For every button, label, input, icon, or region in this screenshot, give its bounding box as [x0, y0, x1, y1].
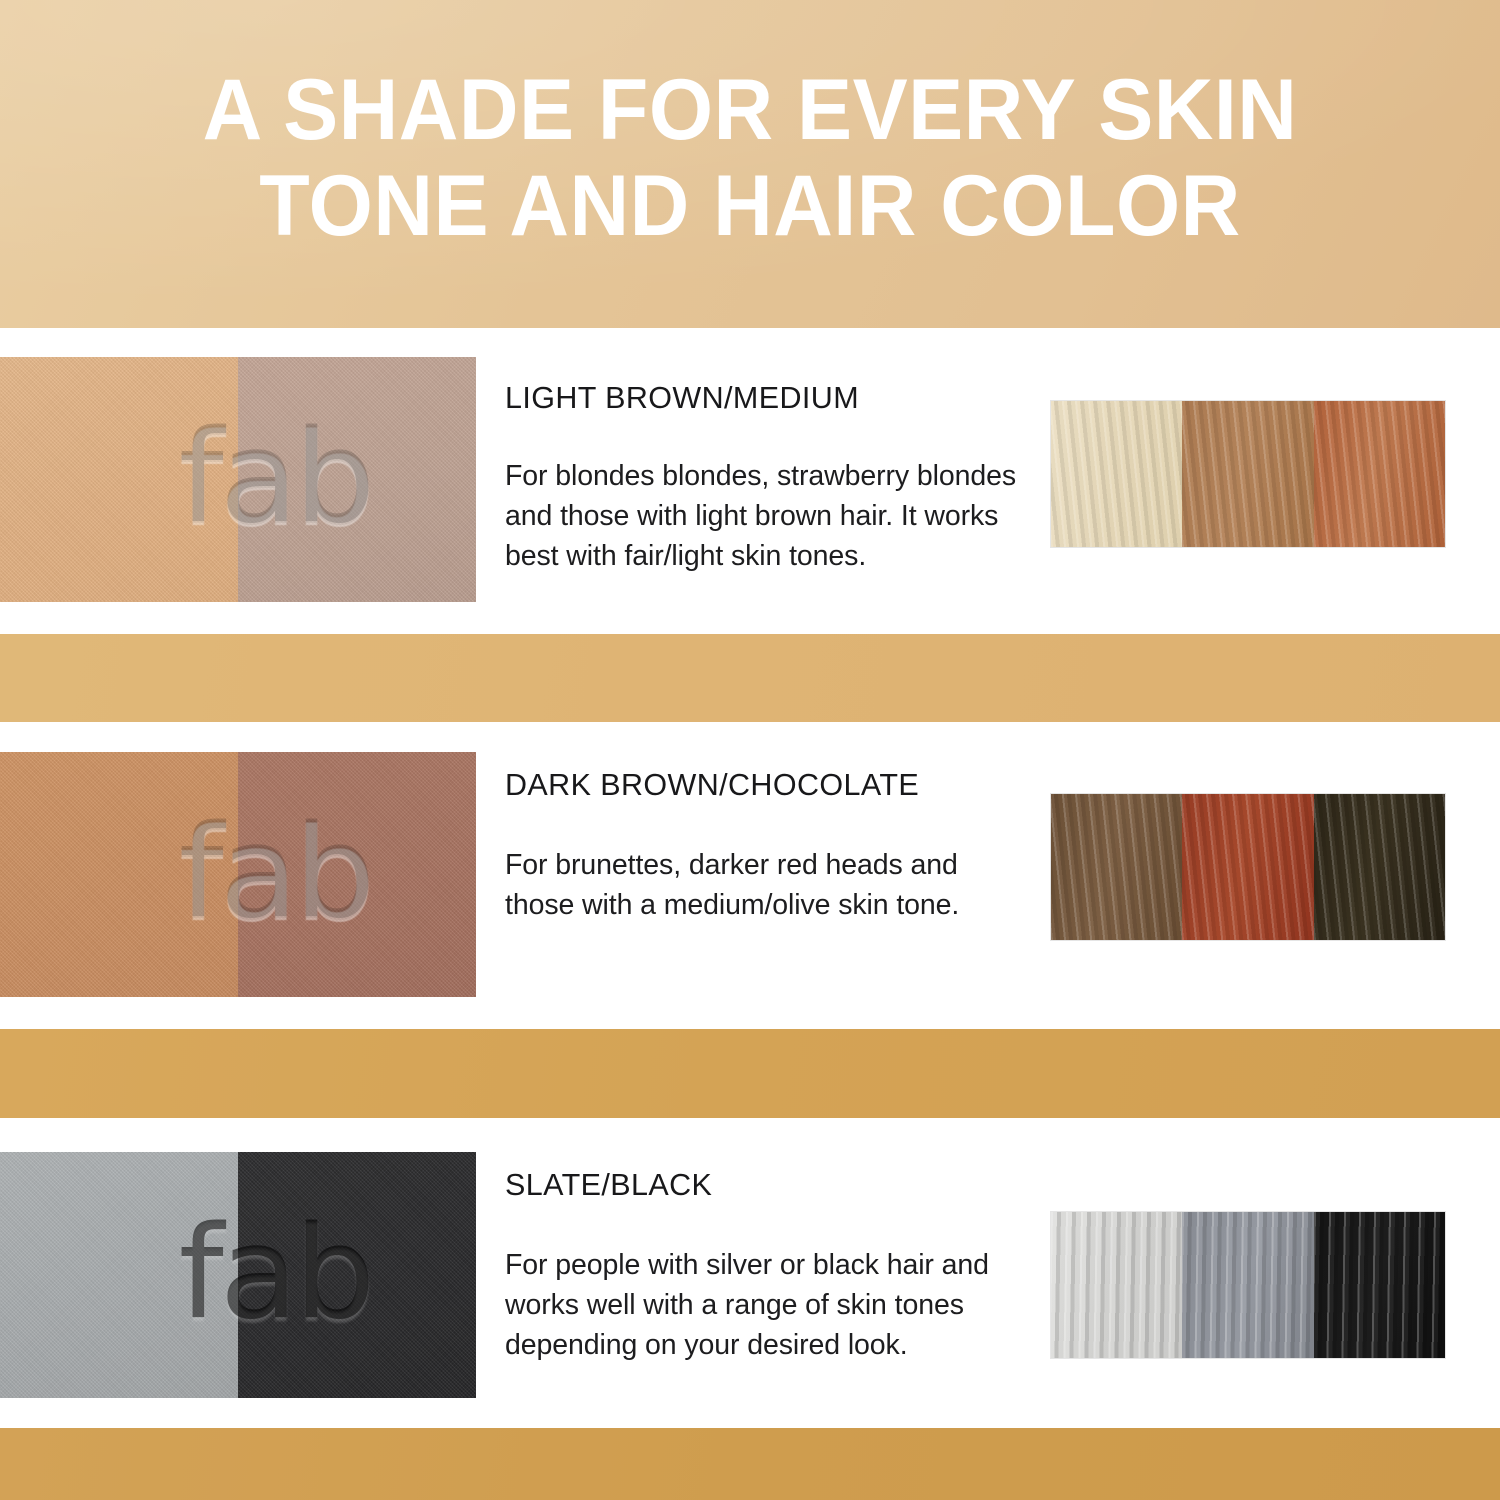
pan-half-right-chocolate [238, 752, 476, 997]
gold-divider-band-2 [0, 1029, 1500, 1118]
product-pan-slate-black: fab [0, 1152, 476, 1398]
shade-description: For blondes blondes, strawberry blondes … [505, 456, 1025, 576]
shade-row-slate-black: fab SLATE/BLACK For people with silver o… [0, 1152, 1500, 1398]
hair-swatch-strip-light-brown-medium [1051, 401, 1445, 547]
product-pan-dark-brown-chocolate: fab [0, 752, 476, 997]
hair-swatch-medium-brown [1051, 794, 1182, 940]
hair-swatch-strip-slate-black [1051, 1212, 1445, 1358]
hair-swatch-strip-dark-brown-chocolate [1051, 794, 1445, 940]
header-banner: A SHADE FOR EVERY SKIN TONE AND HAIR COL… [0, 0, 1500, 328]
shade-text-block-slate-black: SLATE/BLACK For people with silver or bl… [505, 1168, 1025, 1365]
hair-swatch-grey [1182, 1212, 1313, 1358]
hair-swatch-silver [1051, 1212, 1182, 1358]
pan-half-left-slate [0, 1152, 238, 1398]
gold-divider-band-3 [0, 1428, 1500, 1500]
pan-half-left-dark-brown [0, 752, 238, 997]
shade-title: SLATE/BLACK [505, 1168, 1025, 1203]
hair-swatch-auburn-red [1182, 794, 1313, 940]
shade-text-block-dark-brown-chocolate: DARK BROWN/CHOCOLATE For brunettes, dark… [505, 768, 1025, 925]
pan-half-left-light-brown [0, 357, 238, 602]
hair-swatch-strawberry-blonde [1314, 401, 1445, 547]
shade-title: LIGHT BROWN/MEDIUM [505, 381, 1025, 416]
pan-half-right-black [238, 1152, 476, 1398]
product-pan-light-brown-medium: fab [0, 357, 476, 602]
shade-text-block-light-brown-medium: LIGHT BROWN/MEDIUM For blondes blondes, … [505, 381, 1025, 576]
hair-swatch-black [1314, 1212, 1445, 1358]
shade-title: DARK BROWN/CHOCOLATE [505, 768, 1025, 803]
shade-guide-infographic: A SHADE FOR EVERY SKIN TONE AND HAIR COL… [0, 0, 1500, 1500]
shade-row-light-brown-medium: fab LIGHT BROWN/MEDIUM For blondes blond… [0, 357, 1500, 602]
hair-swatch-pale-blonde [1051, 401, 1182, 547]
page-title: A SHADE FOR EVERY SKIN TONE AND HAIR COL… [116, 62, 1383, 254]
pan-half-right-medium [238, 357, 476, 602]
shade-row-dark-brown-chocolate: fab DARK BROWN/CHOCOLATE For brunettes, … [0, 752, 1500, 997]
gold-divider-band-1 [0, 634, 1500, 722]
shade-description: For brunettes, darker red heads and thos… [505, 845, 1025, 925]
hair-swatch-golden-light-brown [1182, 401, 1313, 547]
hair-swatch-darkest-brown [1314, 794, 1445, 940]
shade-description: For people with silver or black hair and… [505, 1245, 1025, 1365]
